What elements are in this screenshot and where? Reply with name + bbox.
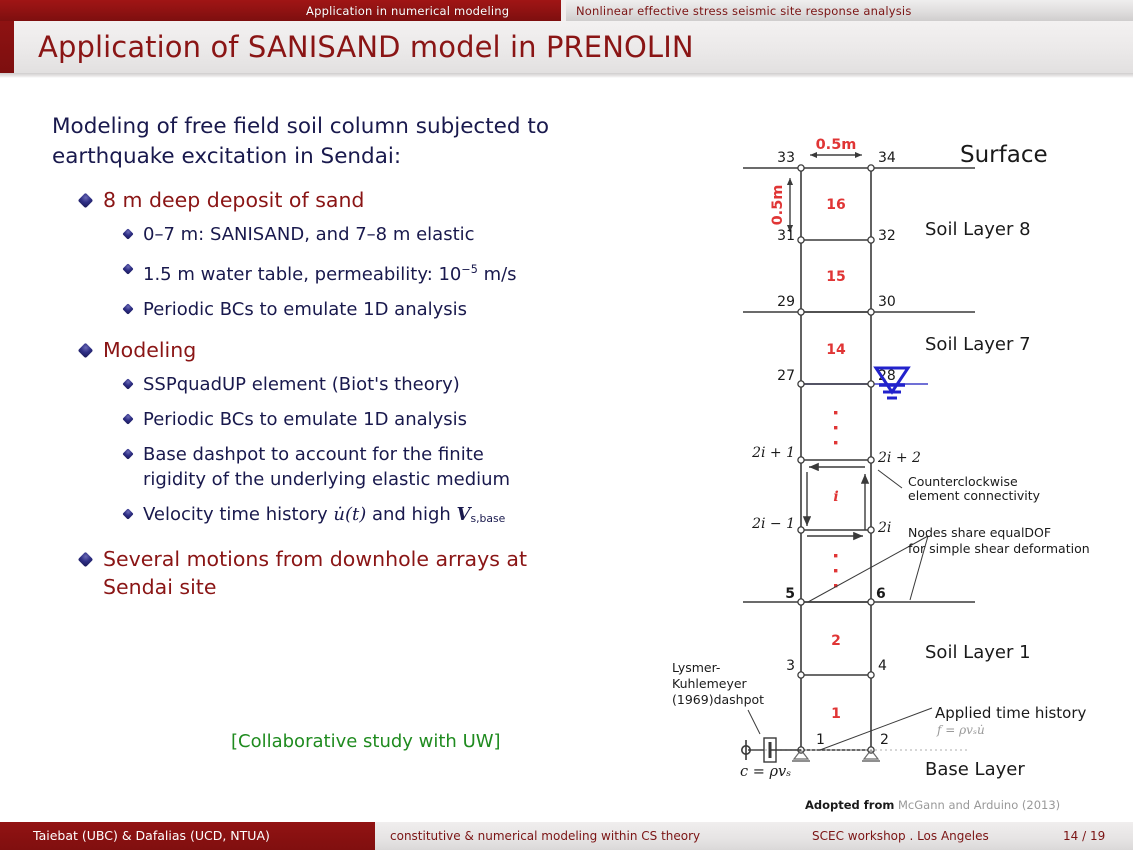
node-label-2i-minus-1: 2i − 1	[751, 516, 795, 532]
node-label-34: 34	[878, 150, 896, 166]
surface-label: Surface	[960, 142, 1048, 168]
bullet-item-level1: Several motions from downhole arrays at …	[80, 545, 712, 601]
node-2i-plus-2	[868, 457, 874, 463]
shear-velocity-symbol: V	[457, 504, 471, 525]
bullet-level2-label: Periodic BCs to emulate 1D analysis	[143, 407, 467, 432]
shear-velocity-subscript: s,base	[470, 512, 505, 525]
node-29	[798, 309, 804, 315]
nav-item-inactive[interactable]: Nonlinear effective stress seismic site …	[576, 2, 912, 19]
diamond-bullet-icon	[122, 303, 133, 314]
node-label-27: 27	[777, 368, 795, 384]
bullet-item-level2: Periodic BCs to emulate 1D analysis	[124, 297, 712, 322]
lead-line-1: Modeling of free field soil column subje…	[52, 112, 712, 142]
element-label-15: 15	[826, 269, 845, 285]
diamond-bullet-icon	[122, 508, 133, 519]
equaldof-caption-line-1: Nodes share equalDOF	[908, 525, 1051, 540]
diamond-bullet-icon	[78, 343, 94, 359]
velocity-symbol: u̇(t)	[333, 504, 366, 525]
leader-line-dashpot	[748, 710, 760, 734]
node-label-30: 30	[878, 294, 896, 310]
dashpot-caption-line-1: Lysmer-	[672, 660, 720, 675]
dashpot-line-1: Base dashpot to account for the finite	[143, 444, 484, 465]
diamond-bullet-icon	[122, 228, 133, 239]
bullet-level2-label-dashpot: Base dashpot to account for the finite r…	[143, 442, 510, 492]
node-28	[868, 381, 874, 387]
height-dimension: 0.5m	[770, 178, 790, 232]
diamond-bullet-icon	[122, 413, 133, 424]
connectivity-caption-line-2: element connectivity	[908, 488, 1041, 503]
node-label-29: 29	[777, 294, 795, 310]
footer-venue: SCEC workshop . Los Angeles	[812, 829, 989, 843]
permeability-suffix: m/s	[478, 264, 517, 285]
element-label-16: 16	[826, 197, 845, 213]
node-4	[868, 672, 874, 678]
base-support-group	[792, 750, 880, 761]
node-33	[798, 165, 804, 171]
diamond-bullet-icon	[122, 448, 133, 459]
footer-subject: constitutive & numerical modeling within…	[390, 829, 700, 843]
collaboration-note: [Collaborative study with UW]	[231, 731, 501, 752]
element-label-i: i	[833, 489, 838, 505]
lead-paragraph: Modeling of free field soil column subje…	[52, 112, 712, 172]
bullet-group-motions: Several motions from downhole arrays at …	[52, 545, 712, 601]
bullet-item-level1: 8 m deep deposit of sand	[80, 186, 712, 214]
node-label-32: 32	[878, 228, 896, 244]
bullet-level1-label-motions: Several motions from downhole arrays at …	[103, 545, 527, 601]
element-label-2: 2	[831, 633, 841, 649]
leader-line-connectivity	[878, 470, 902, 488]
applied-time-history-formula: f = ρvₛu̇	[936, 723, 985, 737]
page-title: Application of SANISAND model in PRENOLI…	[38, 30, 694, 64]
soil-layer-7-label: Soil Layer 7	[925, 334, 1031, 355]
node-5	[798, 599, 804, 605]
node-label-33: 33	[777, 150, 795, 166]
diamond-bullet-icon	[122, 378, 133, 389]
node-label-6: 6	[876, 586, 886, 602]
bullet-item-level1: Modeling	[80, 336, 712, 364]
nav-item-active[interactable]: Application in numerical modeling	[306, 2, 509, 19]
diamond-bullet-icon	[78, 193, 94, 209]
equaldof-caption-line-2: for simple shear deformation	[908, 541, 1090, 556]
soil-column-diagram: 0.5m 0.5m 16 15 14 i 2 1 33 34 31 32 29 …	[660, 130, 1133, 830]
node-32	[868, 237, 874, 243]
permeability-exponent: −5	[461, 263, 477, 276]
bullet-level2-label: SSPquadUP element (Biot's theory)	[143, 372, 460, 397]
bullet-level2-label-permeability: 1.5 m water table, permeability: 10−5 m/…	[143, 257, 517, 287]
bullet-level2-label: Periodic BCs to emulate 1D analysis	[143, 297, 467, 322]
nav-separator	[561, 0, 566, 21]
bullet-item-level2: Periodic BCs to emulate 1D analysis	[124, 407, 712, 432]
title-band-rule	[0, 73, 1133, 78]
footer-author: Taiebat (UBC) & Dafalias (UCD, NTUA)	[33, 828, 270, 843]
permeability-prefix: 1.5 m water table, permeability: 10	[143, 264, 461, 285]
node-label-2i-plus-1: 2i + 1	[751, 445, 795, 461]
node-label-5: 5	[785, 586, 795, 602]
node-30	[868, 309, 874, 315]
node-2i-minus-1	[798, 527, 804, 533]
title-band-accent-edge	[0, 21, 14, 73]
bullet-level1-label: 8 m deep deposit of sand	[103, 186, 364, 214]
mesh-node-group	[798, 165, 874, 753]
node-3	[798, 672, 804, 678]
bullet-item-level2: 0–7 m: SANISAND, and 7–8 m elastic	[124, 222, 712, 247]
lead-line-2: earthquake excitation in Sendai:	[52, 142, 712, 172]
connectivity-caption-line-1: Counterclockwise	[908, 474, 1018, 489]
bullet-level1-label: Modeling	[103, 336, 196, 364]
node-label-2: 2	[880, 732, 889, 748]
node-label-3: 3	[786, 658, 795, 674]
node-2i	[868, 527, 874, 533]
figure-credit: Adopted from McGann and Arduino (2013)	[805, 798, 1060, 812]
node-6	[868, 599, 874, 605]
dashpot-formula: c = ρvₛ	[740, 764, 791, 780]
soil-layer-1-label: Soil Layer 1	[925, 642, 1031, 663]
node-34	[868, 165, 874, 171]
base-layer-label: Base Layer	[925, 759, 1025, 780]
node-label-1: 1	[816, 732, 825, 748]
node-27	[798, 381, 804, 387]
content-column: Modeling of free field soil column subje…	[52, 112, 712, 609]
motions-line-2: Sendai site	[103, 575, 216, 599]
bullet-group-sand: 8 m deep deposit of sand 0–7 m: SANISAND…	[52, 186, 712, 322]
soil-column-mesh-figure: 0.5m 0.5m 16 15 14 i 2 1 33 34 31 32 29 …	[660, 130, 1133, 830]
node-31	[798, 237, 804, 243]
node-2i-plus-1	[798, 457, 804, 463]
node-label-31: 31	[777, 228, 795, 244]
bullet-item-level2: Base dashpot to account for the finite r…	[124, 442, 712, 492]
dashpot-symbol	[742, 738, 801, 762]
bullet-level2-label-velocity: Velocity time history u̇(t) and high Vs,…	[143, 502, 505, 531]
bullet-item-level2: 1.5 m water table, permeability: 10−5 m/…	[124, 257, 712, 287]
bullet-level2-label: 0–7 m: SANISAND, and 7–8 m elastic	[143, 222, 475, 247]
node-label-2i: 2i	[877, 520, 891, 536]
width-dimension-label: 0.5m	[816, 137, 857, 153]
bullet-item-level2: SSPquadUP element (Biot's theory)	[124, 372, 712, 397]
motions-line-1: Several motions from downhole arrays at	[103, 547, 527, 571]
diamond-bullet-icon	[78, 552, 94, 568]
applied-time-history-label: Applied time history	[935, 704, 1087, 722]
node-label-4: 4	[878, 658, 887, 674]
figure-credit-rest: McGann and Arduino (2013)	[894, 798, 1060, 812]
soil-layer-8-label: Soil Layer 8	[925, 219, 1031, 240]
dashpot-caption-line-3: (1969)dashpot	[672, 692, 764, 707]
velocity-middle: and high	[366, 504, 456, 525]
element-label-14: 14	[826, 342, 846, 358]
velocity-prefix: Velocity time history	[143, 504, 333, 525]
node-label-2i-plus-2: 2i + 2	[877, 450, 921, 466]
element-label-1: 1	[831, 706, 841, 722]
height-dimension-label: 0.5m	[770, 185, 786, 226]
dashpot-caption-line-2: Kuhlemeyer	[672, 676, 748, 691]
figure-credit-bold: Adopted from	[805, 798, 894, 812]
bullet-group-modeling: Modeling SSPquadUP element (Biot's theor…	[52, 336, 712, 531]
footer-page-number: 14 / 19	[1063, 829, 1105, 843]
dashpot-line-2: rigidity of the underlying elastic mediu…	[143, 469, 510, 490]
width-dimension: 0.5m	[810, 137, 862, 155]
bullet-item-level2: Velocity time history u̇(t) and high Vs,…	[124, 502, 712, 531]
diamond-bullet-icon	[122, 263, 133, 274]
